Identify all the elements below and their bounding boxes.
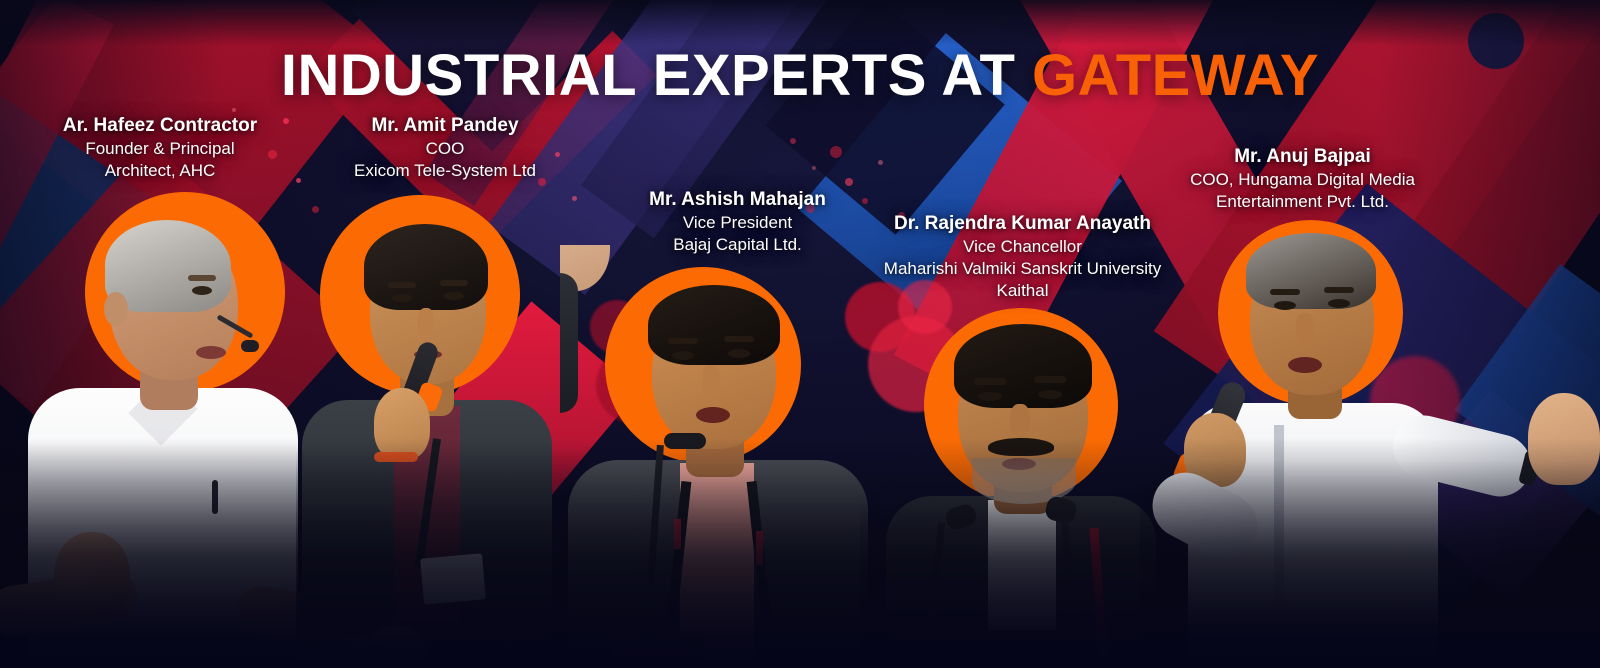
page-title-white-part: INDUSTRIAL EXPERTS AT bbox=[281, 43, 1032, 108]
speaker-card-ashish-mahajan[interactable] bbox=[560, 245, 880, 668]
portrait-hair bbox=[954, 324, 1092, 408]
speaker-name: Ar. Hafeez Contractor bbox=[0, 114, 320, 138]
bokeh-dot bbox=[878, 160, 883, 165]
speaker-title-line-2: Architect, AHC bbox=[0, 160, 320, 182]
speaker-portrait bbox=[1140, 215, 1600, 668]
bokeh-dot bbox=[845, 178, 853, 186]
speaker-portrait bbox=[860, 300, 1180, 668]
portrait-eyebrow bbox=[1270, 289, 1300, 295]
speaker-name: Mr. Ashish Mahajan bbox=[585, 188, 890, 212]
portrait-eye bbox=[672, 351, 694, 360]
page-title-orange-part: GATEWAY bbox=[1032, 43, 1319, 108]
portrait-placket bbox=[1274, 425, 1284, 605]
portrait-hair bbox=[1246, 233, 1376, 309]
portrait-podium bbox=[614, 637, 704, 668]
portrait-hair bbox=[648, 285, 780, 365]
portrait-eyebrow bbox=[188, 275, 216, 281]
speaker-title-line-3: Kaithal bbox=[845, 280, 1200, 302]
speaker-title-line-2: Maharishi Valmiki Sanskrit University bbox=[845, 258, 1200, 280]
portrait-nose bbox=[418, 308, 434, 338]
portrait-eyebrow bbox=[440, 280, 468, 286]
portrait-eyebrow bbox=[724, 336, 754, 342]
speaker-title-line-1: Founder & Principal bbox=[0, 138, 320, 160]
speaker-card-amit-pandey[interactable] bbox=[296, 190, 586, 668]
speaker-label-rajendra-kumar-anayath: Dr. Rajendra Kumar Anayath Vice Chancell… bbox=[845, 212, 1200, 302]
portrait-nose bbox=[1010, 404, 1030, 438]
speaker-title-line-1: COO, Hungama Digital Media bbox=[1150, 169, 1455, 191]
page-title: INDUSTRIAL EXPERTS AT GATEWAY bbox=[0, 47, 1600, 105]
portrait-mouth bbox=[196, 346, 226, 359]
portrait-mouth bbox=[1288, 357, 1322, 373]
portrait-collar bbox=[988, 500, 1056, 630]
bokeh-dot bbox=[232, 108, 236, 112]
portrait-eye bbox=[392, 294, 412, 302]
speaker-label-hafeez-contractor: Ar. Hafeez Contractor Founder & Principa… bbox=[0, 114, 320, 182]
speaker-portrait bbox=[560, 245, 880, 668]
speaker-title-line-2: Entertainment Pvt. Ltd. bbox=[1150, 191, 1455, 213]
portrait-wristband bbox=[374, 452, 418, 462]
bokeh-dot bbox=[812, 166, 816, 170]
portrait-eyebrow bbox=[1324, 287, 1354, 293]
speaker-label-anuj-bajpai: Mr. Anuj Bajpai COO, Hungama Digital Med… bbox=[1150, 145, 1455, 213]
portrait-podium-microphone bbox=[664, 433, 706, 449]
speaker-card-rajendra-kumar-anayath[interactable] bbox=[860, 300, 1180, 668]
portrait-hand bbox=[374, 388, 430, 460]
speaker-portrait bbox=[296, 190, 586, 668]
speaker-portrait-body bbox=[0, 180, 340, 668]
speaker-name: Mr. Anuj Bajpai bbox=[1150, 145, 1455, 169]
portrait-eye bbox=[192, 286, 212, 295]
portrait-hair bbox=[364, 224, 488, 310]
portrait-ear bbox=[104, 292, 128, 326]
portrait-left-hand bbox=[54, 532, 130, 620]
portrait-eyebrow bbox=[388, 282, 416, 288]
speaker-label-amit-pandey: Mr. Amit Pandey COO Exicom Tele-System L… bbox=[300, 114, 590, 182]
portrait-nose bbox=[1296, 313, 1314, 345]
speaker-portrait-body bbox=[560, 245, 880, 668]
portrait-pen bbox=[212, 480, 218, 514]
industrial-experts-banner: INDUSTRIAL EXPERTS AT GATEWAY bbox=[0, 0, 1600, 668]
portrait-raised-arm bbox=[560, 273, 578, 413]
portrait-eyebrow bbox=[1034, 376, 1066, 383]
portrait-eye bbox=[978, 392, 1002, 401]
speaker-portrait-body bbox=[1140, 215, 1600, 668]
portrait-hand-right bbox=[1528, 393, 1600, 485]
speaker-card-hafeez-contractor[interactable] bbox=[0, 180, 340, 668]
portrait-eye bbox=[1274, 301, 1296, 310]
portrait-headset-mic-tip bbox=[241, 340, 259, 352]
speaker-portrait bbox=[0, 180, 340, 668]
portrait-eye bbox=[1038, 390, 1062, 399]
bokeh-dot bbox=[830, 146, 842, 158]
portrait-lanyard-accent bbox=[756, 531, 763, 565]
bokeh-dot bbox=[790, 138, 796, 144]
portrait-eyebrow bbox=[974, 378, 1006, 385]
speaker-card-anuj-bajpai[interactable] bbox=[1140, 215, 1600, 668]
portrait-eye bbox=[1328, 299, 1350, 308]
portrait-moustache bbox=[988, 438, 1054, 456]
portrait-badge bbox=[420, 553, 486, 604]
speaker-portrait-body bbox=[860, 300, 1180, 668]
portrait-eye bbox=[728, 349, 750, 358]
speaker-title-line-1: Vice Chancellor bbox=[845, 236, 1200, 258]
speaker-title-line-1: COO bbox=[300, 138, 590, 160]
portrait-mouth bbox=[696, 407, 730, 423]
speaker-name: Dr. Rajendra Kumar Anayath bbox=[845, 212, 1200, 236]
portrait-lanyard-accent bbox=[674, 519, 681, 549]
portrait-nose bbox=[702, 365, 720, 397]
speaker-title-line-2: Exicom Tele-System Ltd bbox=[300, 160, 590, 182]
speaker-portrait-body bbox=[296, 190, 586, 668]
portrait-eye bbox=[444, 292, 464, 300]
speaker-name: Mr. Amit Pandey bbox=[300, 114, 590, 138]
portrait-eyebrow bbox=[668, 338, 698, 344]
